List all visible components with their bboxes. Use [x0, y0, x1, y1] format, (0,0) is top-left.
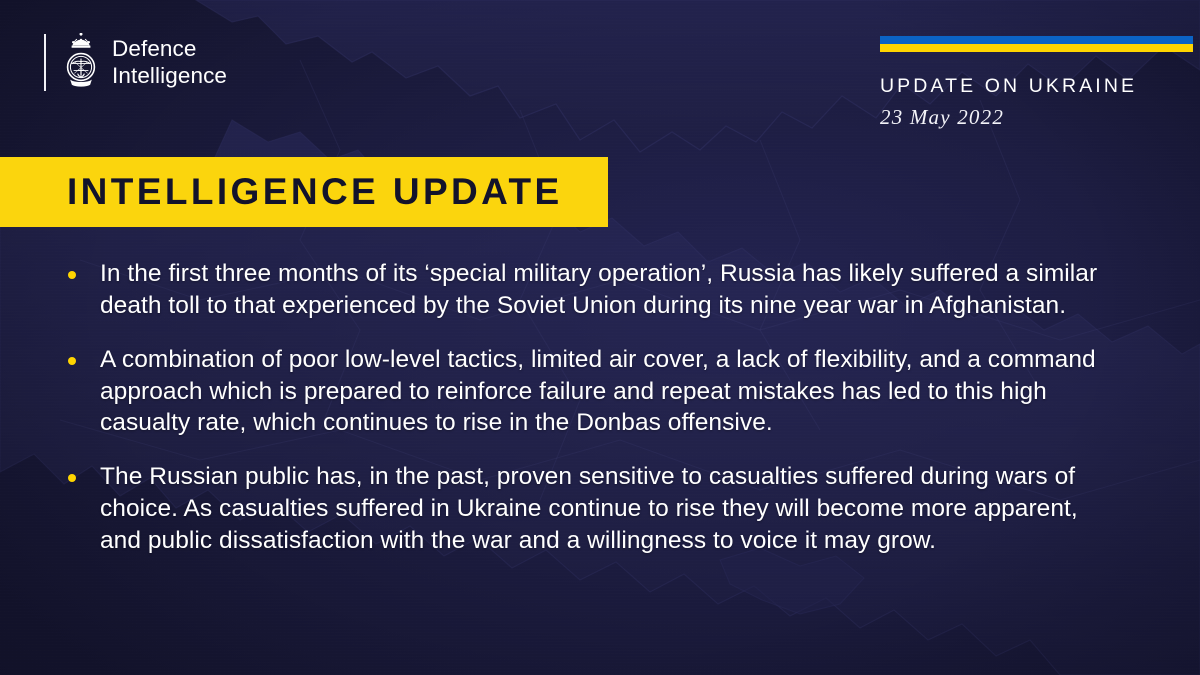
- ukraine-flag-bar: [880, 36, 1193, 52]
- banner-label: INTELLIGENCE UPDATE: [67, 171, 563, 213]
- update-date: 23 May 2022: [880, 105, 1195, 130]
- bullet-text: The Russian public has, in the past, pro…: [100, 461, 1100, 557]
- organisation-wordmark: Defence Intelligence: [112, 35, 227, 89]
- bullet-dot-icon: [68, 271, 76, 279]
- bullet-text: In the first three months of its ‘specia…: [100, 258, 1100, 322]
- list-item: A combination of poor low-level tactics,…: [0, 344, 1200, 440]
- bullet-marker-cell: [0, 258, 100, 279]
- bullet-marker-cell: [0, 461, 100, 482]
- update-header-block: UPDATE ON UKRAINE 23 May 2022: [880, 36, 1195, 130]
- bullet-marker-cell: [0, 344, 100, 365]
- intelligence-update-banner: INTELLIGENCE UPDATE: [0, 157, 608, 227]
- defence-intelligence-logo: Defence Intelligence: [44, 33, 227, 91]
- list-item: The Russian public has, in the past, pro…: [0, 461, 1200, 557]
- logo-divider-rule: [44, 34, 46, 91]
- flag-stripe-yellow: [880, 44, 1193, 52]
- list-item: In the first three months of its ‘specia…: [0, 258, 1200, 322]
- flag-stripe-blue: [880, 36, 1193, 44]
- intelligence-update-poster: Defence Intelligence UPDATE ON UKRAINE 2…: [0, 0, 1200, 675]
- bullet-list: In the first three months of its ‘specia…: [0, 258, 1200, 579]
- organisation-line-1: Defence: [112, 35, 227, 62]
- bullet-dot-icon: [68, 474, 76, 482]
- mod-crest-icon: [59, 33, 103, 91]
- bullet-dot-icon: [68, 357, 76, 365]
- bullet-text: A combination of poor low-level tactics,…: [100, 344, 1100, 440]
- organisation-line-2: Intelligence: [112, 62, 227, 89]
- update-title: UPDATE ON UKRAINE: [880, 75, 1195, 98]
